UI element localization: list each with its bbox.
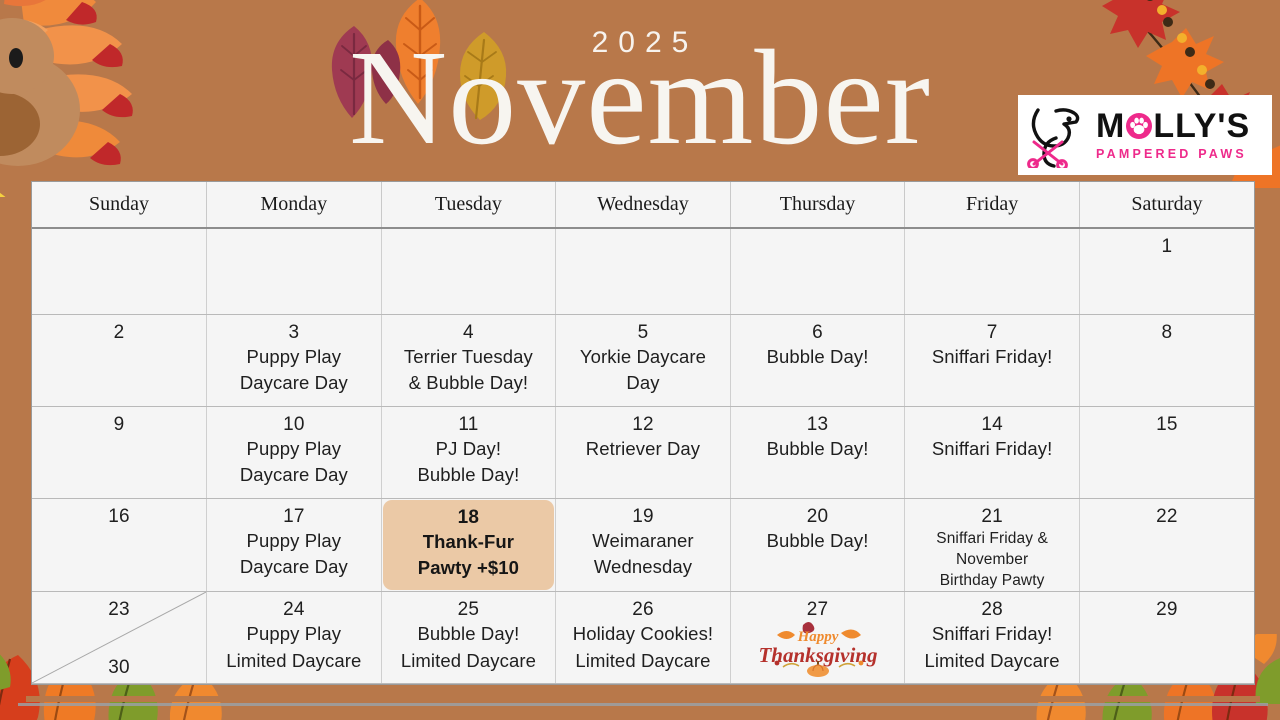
weekday-header-row: Sunday Monday Tuesday Wednesday Thursday… [32, 182, 1254, 228]
day-event-text: Sniffari Friday & [909, 528, 1075, 549]
calendar-day-cell[interactable]: 11PJ Day!Bubble Day! [381, 406, 556, 498]
day-event-text: Yorkie Daycare [560, 344, 726, 371]
happy-thanksgiving-icon: Happy Thanksgiving [743, 619, 893, 677]
day-number: 17 [211, 505, 377, 528]
day-cell-content: 18Thank-FurPawty +$10 [383, 500, 555, 591]
day-cell-content [905, 229, 1079, 235]
day-number: 20 [735, 505, 901, 528]
calendar-day-cell[interactable]: 26Holiday Cookies!Limited Daycare [556, 591, 731, 683]
day-number: 13 [735, 413, 901, 436]
day-cell-content: 14Sniffari Friday! [905, 407, 1079, 463]
day-event-text: Wednesday [560, 554, 726, 581]
day-event-text: Daycare Day [211, 554, 377, 581]
day-number: 28 [909, 598, 1075, 621]
calendar-page: 2025 November M [0, 0, 1280, 720]
day-number: 26 [560, 598, 726, 621]
day-cell-content: 10Puppy PlayDaycare Day [207, 407, 381, 490]
calendar-day-cell[interactable]: 28Sniffari Friday!Limited Daycare [905, 591, 1080, 683]
day-event-text: Bubble Day! [735, 344, 901, 371]
calendar-week-row: 23 30 24Puppy PlayLimited Daycare25Bubbl… [32, 591, 1254, 683]
dog-head-with-scissors-icon [1026, 102, 1090, 168]
calendar-day-cell[interactable]: 13Bubble Day! [730, 406, 905, 498]
weekday-header-tuesday: Tuesday [381, 182, 556, 228]
day-event-text: Sniffari Friday! [909, 621, 1075, 648]
calendar-day-cell[interactable]: 1 [1079, 228, 1254, 314]
day-cell-content: 16 [32, 499, 206, 528]
day-event-text: Weimaraner [560, 528, 726, 555]
day-cell-content: 19WeimaranerWednesday [556, 499, 730, 582]
bottom-rule [18, 703, 1268, 706]
day-cell-content: 4Terrier Tuesday& Bubble Day! [382, 315, 556, 398]
calendar-day-cell[interactable]: 17Puppy PlayDaycare Day [207, 498, 382, 591]
calendar-day-cell[interactable]: 16 [32, 498, 207, 591]
calendar-day-cell[interactable]: 22 [1079, 498, 1254, 591]
weekday-header-wednesday: Wednesday [556, 182, 731, 228]
day-number: 18 [387, 506, 551, 529]
day-number: 2 [36, 321, 202, 344]
day-cell-content [207, 229, 381, 235]
logo-brand-pre: M [1096, 109, 1125, 143]
calendar-day-cell[interactable]: 3Puppy PlayDaycare Day [207, 314, 382, 406]
day-cell-content: 29 [1080, 592, 1254, 621]
day-number: 14 [909, 413, 1075, 436]
day-number: 9 [36, 413, 202, 436]
day-event-text: Daycare Day [211, 462, 377, 489]
calendar-week-row: 1617Puppy PlayDaycare Day18Thank-FurPawt… [32, 498, 1254, 591]
day-cell-content: 21Sniffari Friday &NovemberBirthday Pawt… [905, 499, 1079, 591]
day-number: 8 [1084, 321, 1250, 344]
day-cell-content: 22 [1080, 499, 1254, 528]
day-event-text: Thank-Fur [387, 529, 551, 556]
day-cell-content: 15 [1080, 407, 1254, 436]
logo-text-group: M LLY'S PAMPERED PAWS [1096, 109, 1262, 161]
weekday-header-monday: Monday [207, 182, 382, 228]
day-cell-content [731, 229, 905, 235]
day-number: 5 [560, 321, 726, 344]
day-number: 22 [1084, 505, 1250, 528]
day-event-text: Day [560, 370, 726, 397]
day-cell-content: 26Holiday Cookies!Limited Daycare [556, 592, 730, 675]
calendar-day-cell[interactable]: 21Sniffari Friday &NovemberBirthday Pawt… [905, 498, 1080, 591]
weekday-header-thursday: Thursday [730, 182, 905, 228]
calendar-day-cell[interactable]: 29 [1079, 591, 1254, 683]
day-number: 24 [211, 598, 377, 621]
day-event-text: Pawty +$10 [387, 555, 551, 582]
day-cell-content: 1 [1080, 229, 1254, 258]
day-cell-content: 17Puppy PlayDaycare Day [207, 499, 381, 582]
day-number: 1 [1084, 235, 1250, 258]
day-number: 11 [386, 413, 552, 436]
day-number: 27 [735, 598, 901, 621]
calendar-day-cell[interactable]: 20Bubble Day! [730, 498, 905, 591]
logo-brand-name: M LLY'S [1096, 109, 1262, 143]
day-event-text: & Bubble Day! [386, 370, 552, 397]
day-event-text: Daycare Day [211, 370, 377, 397]
day-event-text: Puppy Play [211, 344, 377, 371]
calendar-day-cell-empty[interactable] [556, 228, 731, 314]
day-cell-content: 7Sniffari Friday! [905, 315, 1079, 371]
day-event-text: Retriever Day [560, 436, 726, 463]
logo-tagline: PAMPERED PAWS [1096, 148, 1262, 161]
day-cell-content: 27 Happy Thanksgiving [731, 592, 905, 677]
calendar-day-cell[interactable]: 9 [32, 406, 207, 498]
calendar-day-cell-split[interactable]: 23 30 [32, 591, 207, 683]
day-cell-content: 3Puppy PlayDaycare Day [207, 315, 381, 398]
day-cell-content: 2 [32, 315, 206, 344]
day-event-text: Limited Daycare [211, 648, 377, 675]
calendar-header: 2025 November M [0, 0, 1280, 182]
day-event-text: November [909, 549, 1075, 570]
day-number: 21 [909, 505, 1075, 528]
day-event-text: Bubble Day! [386, 621, 552, 648]
calendar-day-cell[interactable]: 14Sniffari Friday! [905, 406, 1080, 498]
logo-brand-post: LLY'S [1153, 109, 1250, 143]
day-number: 10 [211, 413, 377, 436]
day-event-text: Puppy Play [211, 528, 377, 555]
calendar-day-cell-empty[interactable] [381, 228, 556, 314]
day-event-text: Puppy Play [211, 621, 377, 648]
day-cell-content: 9 [32, 407, 206, 436]
day-event-text: Puppy Play [211, 436, 377, 463]
day-event-text: Bubble Day! [735, 436, 901, 463]
day-cell-content: 5Yorkie DaycareDay [556, 315, 730, 398]
calendar-day-cell[interactable]: 15 [1079, 406, 1254, 498]
day-number: 23 [32, 598, 206, 621]
calendar-day-cell-empty[interactable] [207, 228, 382, 314]
calendar-day-cell[interactable]: 19WeimaranerWednesday [556, 498, 731, 591]
calendar-day-cell[interactable]: 10Puppy PlayDaycare Day [207, 406, 382, 498]
calendar-week-row: 23Puppy PlayDaycare Day4Terrier Tuesday&… [32, 314, 1254, 406]
calendar-day-cell-empty[interactable] [730, 228, 905, 314]
day-event-text: Bubble Day! [386, 462, 552, 489]
calendar-grid: Sunday Monday Tuesday Wednesday Thursday… [32, 182, 1254, 684]
calendar-day-cell[interactable]: 6Bubble Day! [730, 314, 905, 406]
day-cell-content: 11PJ Day!Bubble Day! [382, 407, 556, 490]
day-number: 19 [560, 505, 726, 528]
table-base-band [26, 696, 1260, 702]
calendar-day-cell[interactable]: 8 [1079, 314, 1254, 406]
weekday-header-friday: Friday [905, 182, 1080, 228]
calendar-day-cell[interactable]: 4Terrier Tuesday& Bubble Day! [381, 314, 556, 406]
day-event-text: Limited Daycare [386, 648, 552, 675]
day-number: 6 [735, 321, 901, 344]
brand-logo[interactable]: M LLY'S PAMPERED PAWS [1018, 95, 1272, 175]
calendar-week-row: 1 [32, 228, 1254, 314]
day-cell-content [556, 229, 730, 235]
weekday-header-saturday: Saturday [1079, 182, 1254, 228]
day-number-secondary: 30 [32, 656, 206, 679]
day-event-text: Limited Daycare [560, 648, 726, 675]
day-cell-content: 24Puppy PlayLimited Daycare [207, 592, 381, 675]
day-event-text: Birthday Pawty [909, 570, 1075, 591]
calendar-day-cell-empty[interactable] [905, 228, 1080, 314]
day-cell-content: 6Bubble Day! [731, 315, 905, 371]
day-cell-content: 28Sniffari Friday!Limited Daycare [905, 592, 1079, 675]
calendar-day-cell[interactable]: 7Sniffari Friday! [905, 314, 1080, 406]
day-event-text: Holiday Cookies! [560, 621, 726, 648]
paw-print-icon [1126, 113, 1152, 139]
day-cell-content: 13Bubble Day! [731, 407, 905, 463]
calendar-day-cell[interactable]: 12Retriever Day [556, 406, 731, 498]
day-cell-content: 8 [1080, 315, 1254, 344]
day-number: 4 [386, 321, 552, 344]
calendar-day-cell[interactable]: 24Puppy PlayLimited Daycare [207, 591, 382, 683]
calendar-week-row: 910Puppy PlayDaycare Day11PJ Day!Bubble … [32, 406, 1254, 498]
calendar-day-cell[interactable]: 18Thank-FurPawty +$10 [381, 498, 556, 591]
day-number: 7 [909, 321, 1075, 344]
day-event-text: Bubble Day! [735, 528, 901, 555]
day-number: 3 [211, 321, 377, 344]
day-cell-content [32, 229, 206, 235]
day-event-text: Sniffari Friday! [909, 436, 1075, 463]
day-cell-content: 25Bubble Day!Limited Daycare [382, 592, 556, 675]
day-event-text: Limited Daycare [909, 648, 1075, 675]
calendar-body: 123Puppy PlayDaycare Day4Terrier Tuesday… [32, 228, 1254, 683]
weekday-header-sunday: Sunday [32, 182, 207, 228]
calendar-day-cell[interactable]: 2 [32, 314, 207, 406]
calendar-day-cell-empty[interactable] [32, 228, 207, 314]
day-event-text: PJ Day! [386, 436, 552, 463]
day-cell-content: 20Bubble Day! [731, 499, 905, 555]
day-event-text: Sniffari Friday! [909, 344, 1075, 371]
day-cell-content: 12Retriever Day [556, 407, 730, 463]
calendar-day-cell[interactable]: 27 Happy Thanksgiving [730, 591, 905, 683]
day-number: 29 [1084, 598, 1250, 621]
day-number: 15 [1084, 413, 1250, 436]
day-number: 16 [36, 505, 202, 528]
day-number: 12 [560, 413, 726, 436]
day-number: 25 [386, 598, 552, 621]
calendar-day-cell[interactable]: 25Bubble Day!Limited Daycare [381, 591, 556, 683]
day-event-text: Terrier Tuesday [386, 344, 552, 371]
calendar-day-cell[interactable]: 5Yorkie DaycareDay [556, 314, 731, 406]
day-cell-content [382, 229, 556, 235]
